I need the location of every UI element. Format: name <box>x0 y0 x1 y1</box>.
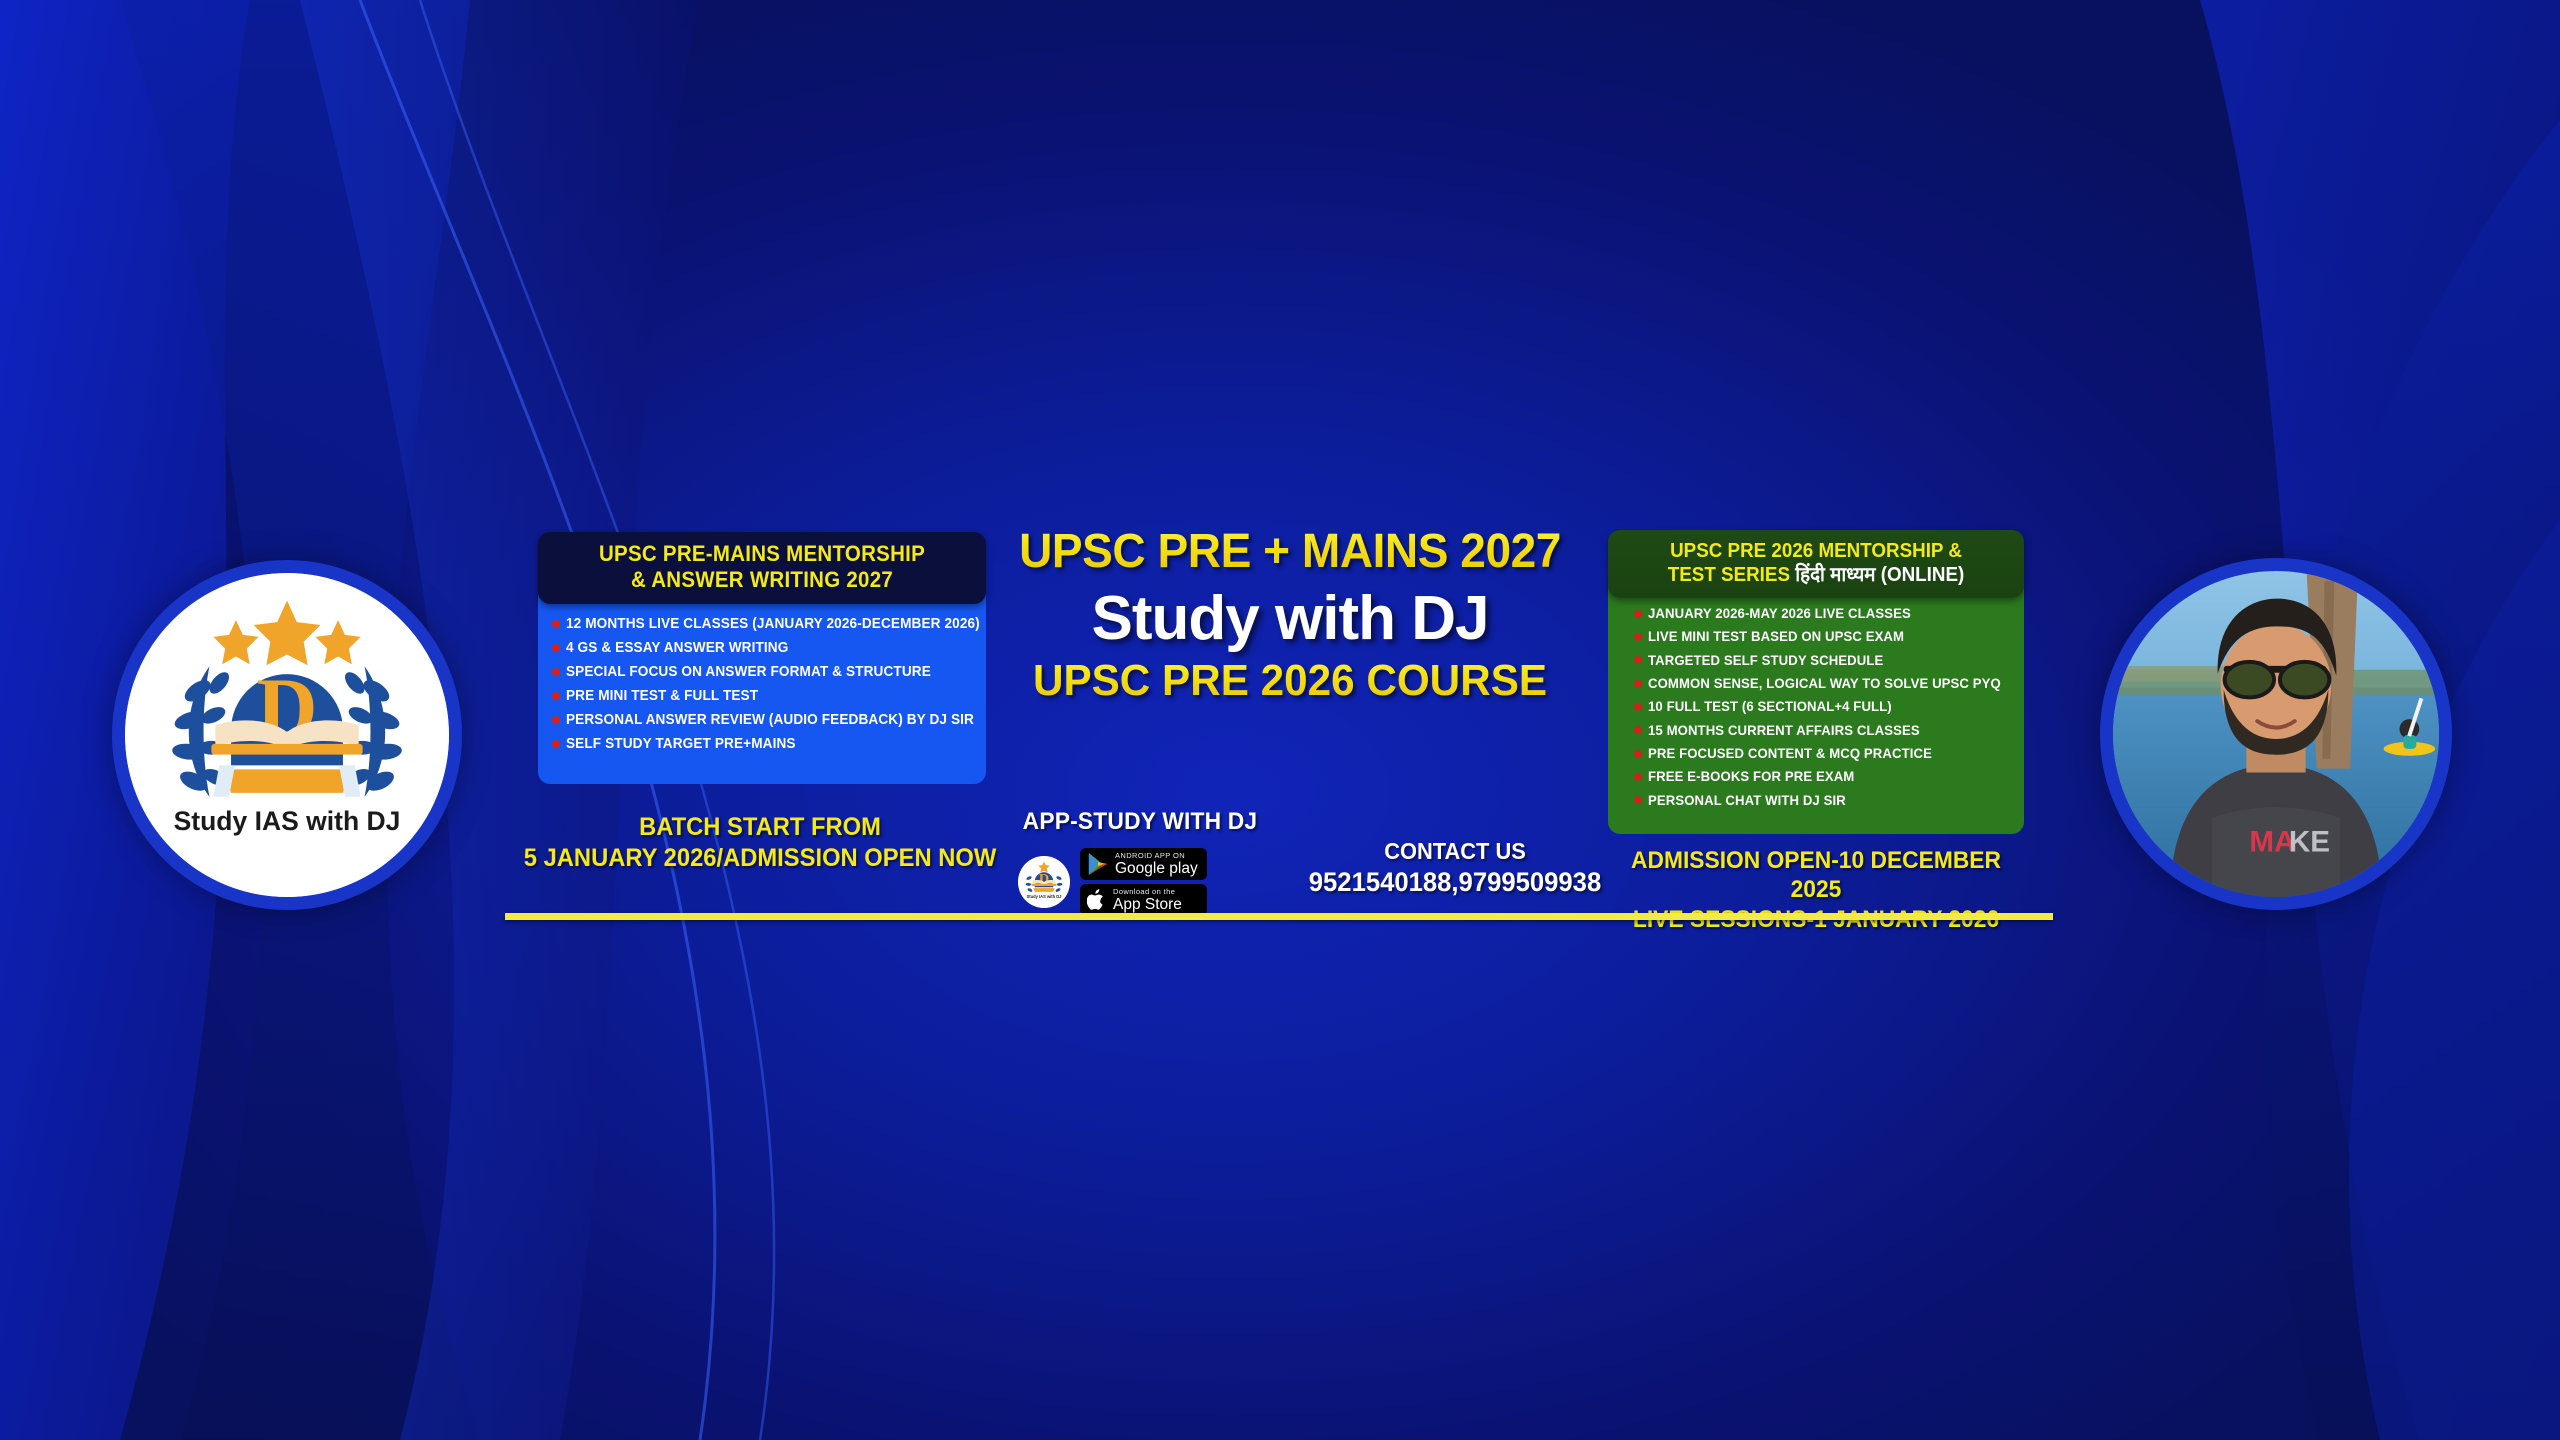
bullet-dot-icon <box>1634 773 1642 781</box>
app-store-big-label: App Store <box>1113 897 1182 913</box>
right-card-header-series: TEST SERIES <box>1668 564 1790 586</box>
list-item-label: PERSONAL CHAT WITH DJ SIR <box>1648 791 1846 810</box>
center-headline-block: UPSC PRE + MAINS 2027 Study with DJ UPSC… <box>1000 524 1580 706</box>
list-item: 10 FULL TEST (6 SECTIONAL+4 FULL) <box>1634 697 2024 716</box>
mini-brand-logo: D Study IAS with DJ <box>1018 856 1070 908</box>
right-card-bullet-list: JANUARY 2026-MAY 2026 LIVE CLASSES LIVE … <box>1608 588 2024 834</box>
list-item: JANUARY 2026-MAY 2026 LIVE CLASSES <box>1634 604 2024 623</box>
list-item-label: SELF STUDY TARGET PRE+MAINS <box>566 734 796 754</box>
instructor-portrait: MA KE <box>2113 571 2439 897</box>
list-item-label: TARGETED SELF STUDY SCHEDULE <box>1648 651 1883 670</box>
list-item: 15 MONTHS CURRENT AFFAIRS CLASSES <box>1634 721 2024 740</box>
list-item: LIVE MINI TEST BASED ON UPSC EXAM <box>1634 627 2024 646</box>
left-card-header: UPSC PRE-MAINS MENTORSHIP & ANSWER WRITI… <box>538 532 986 604</box>
shirt-text-2: KE <box>2289 826 2330 859</box>
list-item: PRE MINI TEST & FULL TEST <box>552 686 986 706</box>
right-card-header-line1: UPSC PRE 2026 MENTORSHIP & <box>1634 539 1999 563</box>
list-item-label: 15 MONTHS CURRENT AFFAIRS CLASSES <box>1648 721 1920 740</box>
right-card-header-line2: TEST SERIES हिंदी माध्यम (ONLINE) <box>1634 563 1999 587</box>
bullet-dot-icon <box>1634 610 1642 618</box>
contact-phone-numbers[interactable]: 9521540188,9799509938 <box>1298 867 1612 898</box>
left-card-bullet-list: 12 MONTHS LIVE CLASSES (JANUARY 2026-DEC… <box>538 594 986 784</box>
list-item-label: JANUARY 2026-MAY 2026 LIVE CLASSES <box>1648 604 1911 623</box>
admission-line1: ADMISSION OPEN-10 DECEMBER 2025 <box>1611 846 2021 905</box>
list-item-label: 12 MONTHS LIVE CLASSES (JANUARY 2026-DEC… <box>566 614 980 634</box>
list-item-label: 4 GS & ESSAY ANSWER WRITING <box>566 638 788 658</box>
bullet-dot-icon <box>552 740 560 748</box>
bullet-dot-icon <box>552 692 560 700</box>
mini-logo-graphic: D Study IAS with DJ <box>1018 856 1070 908</box>
headline-study-with-dj: Study with DJ <box>1000 583 1580 654</box>
bullet-dot-icon <box>1634 750 1642 758</box>
bullet-dot-icon <box>552 620 560 628</box>
list-item: TARGETED SELF STUDY SCHEDULE <box>1634 651 2024 670</box>
bullet-dot-icon <box>1634 796 1642 804</box>
app-store-row: D Study IAS with DJ ANDROID APP ON Goog <box>1018 848 1207 916</box>
contact-title: CONTACT US <box>1298 838 1612 865</box>
list-item: SELF STUDY TARGET PRE+MAINS <box>552 734 986 754</box>
headline-pre-mains-2027: UPSC PRE + MAINS 2027 <box>1012 524 1569 579</box>
app-store-badge[interactable]: Download on the App Store <box>1080 884 1207 916</box>
apple-icon <box>1087 888 1107 912</box>
google-play-badge[interactable]: ANDROID APP ON Google play <box>1080 848 1207 880</box>
list-item-label: COMMON SENSE, LOGICAL WAY TO SOLVE UPSC … <box>1648 674 2001 693</box>
instructor-photo: MA KE <box>2100 558 2452 910</box>
bullet-dot-icon <box>552 716 560 724</box>
svg-text:Study IAS with DJ: Study IAS with DJ <box>1027 894 1062 899</box>
logo-graphic: D Study IAS with DJ <box>125 573 449 897</box>
list-item-label: PRE MINI TEST & FULL TEST <box>566 686 758 706</box>
left-card-header-line2: & ANSWER WRITING 2027 <box>565 567 959 593</box>
batch-start-note: BATCH START FROM 5 JANUARY 2026/ADMISSIO… <box>513 812 1007 873</box>
bullet-dot-icon <box>1634 726 1642 734</box>
yellow-divider <box>505 913 2053 920</box>
list-item-label: LIVE MINI TEST BASED ON UPSC EXAM <box>1648 627 1904 646</box>
list-item: FREE E-BOOKS FOR PRE EXAM <box>1634 767 2024 786</box>
store-badges: ANDROID APP ON Google play Download on t… <box>1080 848 1207 916</box>
bullet-dot-icon <box>1634 633 1642 641</box>
bullet-dot-icon <box>552 644 560 652</box>
list-item-label: FREE E-BOOKS FOR PRE EXAM <box>1648 767 1854 786</box>
list-item: PERSONAL CHAT WITH DJ SIR <box>1634 791 2024 810</box>
google-play-icon <box>1087 852 1109 876</box>
list-item: PERSONAL ANSWER REVIEW (AUDIO FEEDBACK) … <box>552 710 986 730</box>
headline-pre-2026-course: UPSC PRE 2026 COURSE <box>1012 656 1569 706</box>
list-item: PRE FOCUSED CONTENT & MCQ PRACTICE <box>1634 744 2024 763</box>
list-item: 4 GS & ESSAY ANSWER WRITING <box>552 638 986 658</box>
list-item-label: 10 FULL TEST (6 SECTIONAL+4 FULL) <box>1648 697 1892 716</box>
list-item-label: PERSONAL ANSWER REVIEW (AUDIO FEEDBACK) … <box>566 710 974 730</box>
pre-mains-mentorship-card: UPSC PRE-MAINS MENTORSHIP & ANSWER WRITI… <box>538 532 986 787</box>
list-item: COMMON SENSE, LOGICAL WAY TO SOLVE UPSC … <box>1634 674 2024 693</box>
promo-banner: D Study IAS with DJ <box>0 0 2560 1440</box>
list-item-label: PRE FOCUSED CONTENT & MCQ PRACTICE <box>1648 744 1932 763</box>
bullet-dot-icon <box>1634 656 1642 664</box>
left-card-header-line1: UPSC PRE-MAINS MENTORSHIP <box>565 541 959 567</box>
bullet-dot-icon <box>1634 680 1642 688</box>
google-play-big-label: Google play <box>1115 861 1198 877</box>
list-item-label: SPECIAL FOCUS ON ANSWER FORMAT & STRUCTU… <box>566 662 931 682</box>
brand-logo: D Study IAS with DJ <box>112 560 462 910</box>
batch-start-line2: 5 JANUARY 2026/ADMISSION OPEN NOW <box>513 843 1007 874</box>
pre-2026-mentorship-card: UPSC PRE 2026 MENTORSHIP & TEST SERIES ह… <box>1608 530 2024 830</box>
admission-open-note: ADMISSION OPEN-10 DECEMBER 2025 LIVE SES… <box>1611 846 2021 934</box>
app-label: APP-STUDY WITH DJ <box>1012 808 1269 836</box>
bullet-dot-icon <box>1634 703 1642 711</box>
batch-start-line1: BATCH START FROM <box>513 812 1007 843</box>
logo-wordmark: Study IAS with DJ <box>174 806 401 836</box>
list-item: 12 MONTHS LIVE CLASSES (JANUARY 2026-DEC… <box>552 614 986 634</box>
right-card-header: UPSC PRE 2026 MENTORSHIP & TEST SERIES ह… <box>1608 530 2024 598</box>
bullet-dot-icon <box>552 668 560 676</box>
list-item: SPECIAL FOCUS ON ANSWER FORMAT & STRUCTU… <box>552 662 986 682</box>
right-card-header-medium: हिंदी माध्यम (ONLINE) <box>1795 564 1964 586</box>
google-play-small-label: ANDROID APP ON <box>1115 852 1198 860</box>
app-store-small-label: Download on the <box>1113 888 1182 896</box>
contact-block: CONTACT US 9521540188,9799509938 <box>1290 838 1620 898</box>
